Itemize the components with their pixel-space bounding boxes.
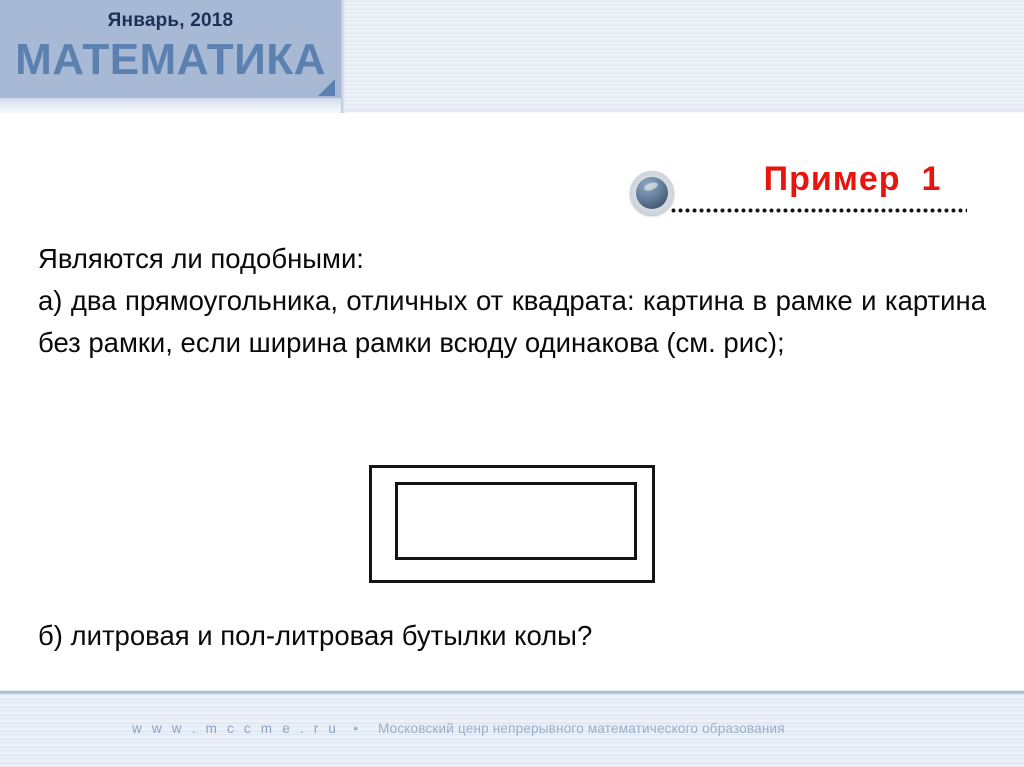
body-item-a: а) два прямоугольника, отличных от квадр… [38,280,986,364]
sphere-highlight-icon [643,181,659,192]
example-title-row: Пример 1 [620,160,990,222]
frame-inner-rectangle [395,482,637,560]
footer-separator-icon: • [353,721,358,735]
body-item-b: б) литровая и пол-литровая бутылки колы? [38,615,986,657]
example-title: Пример 1 [715,160,990,199]
body-lead-line: Являются ли подобными: [38,238,986,280]
dotted-rule [670,208,967,213]
footer-row: w w w . m c c m e . r u • Московский цен… [0,716,1024,740]
sphere-bullet-icon [630,171,674,215]
picture-in-frame-diagram [369,465,655,583]
header-title-block-edge [341,0,345,113]
footer-url[interactable]: w w w . m c c m e . r u [132,721,339,736]
header-title-block-shadow [0,98,345,113]
body-text-block: Являются ли подобными: а) два прямоуголь… [38,238,986,364]
header-subject: МАТЕМАТИКА [0,34,341,86]
footer-top-divider [0,690,1024,694]
slide-root: Январь, 2018 МАТЕМАТИКА Пример 1 Являютс… [0,0,1024,767]
header-date: Январь, 2018 [0,10,341,32]
footer-organization: Московский ценр непрерывного математичес… [378,721,785,736]
